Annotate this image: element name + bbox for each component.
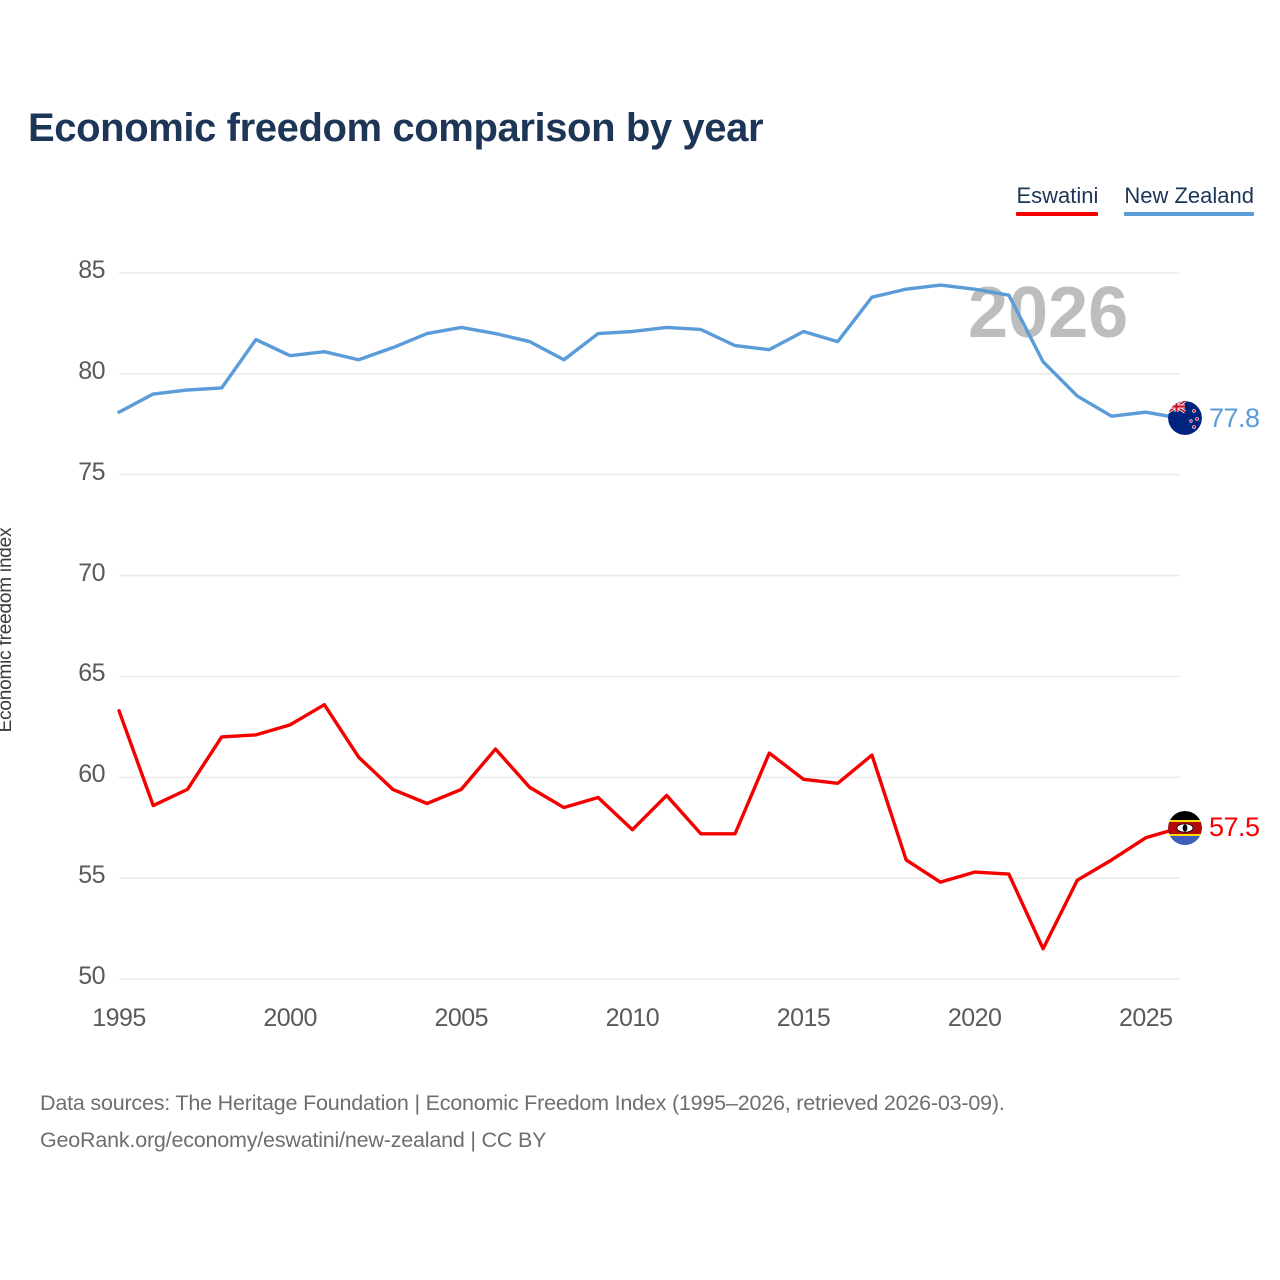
series-lines xyxy=(119,285,1180,949)
gridlines xyxy=(119,273,1180,979)
x-tick-label: 2000 xyxy=(235,1004,345,1033)
footer-line-2: GeoRank.org/economy/eswatini/new-zealand… xyxy=(40,1122,1005,1159)
y-tick-label: 65 xyxy=(45,659,105,688)
x-tick-label: 2005 xyxy=(406,1004,516,1033)
y-tick-label: 85 xyxy=(45,256,105,285)
end-marker-new-zealand[interactable]: 77.8 xyxy=(1168,401,1260,435)
footer-sources: Data sources: The Heritage Foundation | … xyxy=(40,1085,1005,1159)
y-tick-label: 70 xyxy=(45,559,105,588)
y-tick-label: 80 xyxy=(45,357,105,386)
new-zealand-flag-icon xyxy=(1168,401,1202,435)
eswatini-flag-icon xyxy=(1168,811,1202,845)
y-tick-label: 55 xyxy=(45,861,105,890)
y-tick-label: 50 xyxy=(45,962,105,991)
end-value-eswatini: 57.5 xyxy=(1209,812,1260,843)
x-tick-label: 2010 xyxy=(577,1004,687,1033)
x-tick-label: 2025 xyxy=(1091,1004,1201,1033)
x-tick-label: 1995 xyxy=(64,1004,174,1033)
footer-line-1: Data sources: The Heritage Foundation | … xyxy=(40,1085,1005,1122)
x-tick-label: 2015 xyxy=(749,1004,859,1033)
chart-container: Economic freedom comparison by year Eswa… xyxy=(0,0,1280,1280)
x-tick-label: 2020 xyxy=(920,1004,1030,1033)
end-marker-eswatini[interactable]: 57.5 xyxy=(1168,811,1260,845)
y-tick-label: 60 xyxy=(45,760,105,789)
series-line-eswatini xyxy=(119,705,1180,949)
end-value-new-zealand: 77.8 xyxy=(1209,403,1260,434)
y-tick-label: 75 xyxy=(45,458,105,487)
series-line-new-zealand xyxy=(119,285,1180,418)
